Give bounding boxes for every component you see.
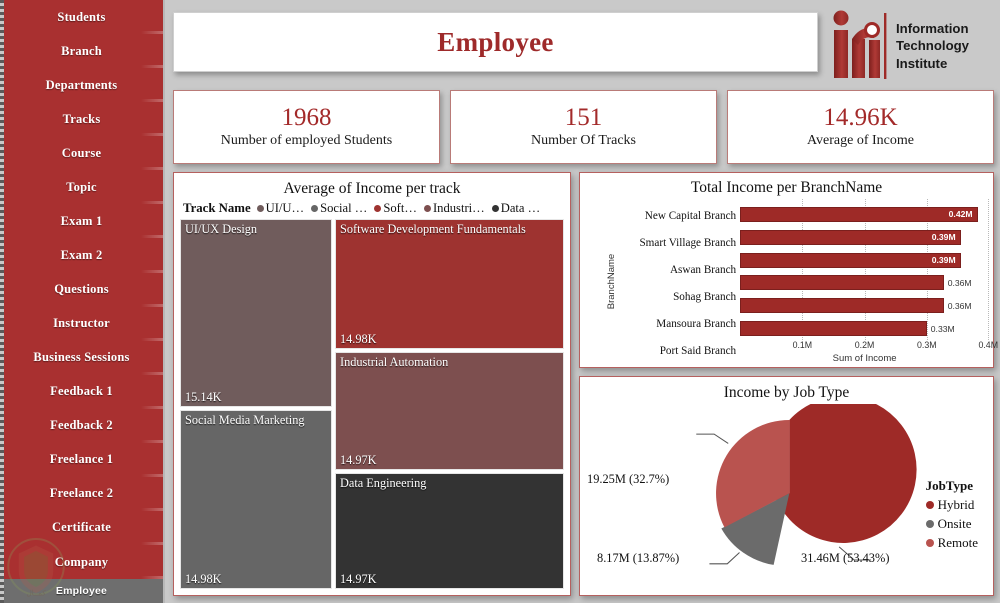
treemap-legend-item-uiux[interactable]: UI/U… — [257, 201, 304, 216]
pie-legend-label: Hybrid — [938, 497, 975, 513]
legend-dot-icon — [926, 501, 934, 509]
pie-chart-legend: JobType Hybrid Onsite Remo — [926, 478, 978, 554]
bar-row[interactable]: 0.36M — [740, 294, 989, 317]
treemap-panel[interactable]: Average of Income per track Track Name U… — [173, 172, 571, 596]
legend-dot-icon — [257, 205, 264, 212]
sidebar-item-label: Feedback 2 — [50, 418, 113, 433]
kpi-value: 151 — [565, 105, 603, 131]
sidebar-item-freelance-2[interactable]: Freelance 2 — [0, 477, 163, 511]
sidebar-item-label: Topic — [66, 180, 96, 195]
bar-chart-y-axis-label: BranchName — [584, 199, 639, 364]
bar-row[interactable]: 0.42M — [740, 203, 989, 226]
pie-legend-label: Onsite — [938, 516, 972, 532]
sidebar-item-business-sessions[interactable]: Business Sessions — [0, 341, 163, 375]
pie-legend-title: JobType — [926, 478, 978, 494]
sidebar-item-label: Departments — [46, 78, 118, 93]
bar-category-label: New Capital Branch — [639, 203, 740, 230]
sidebar-item-label: Exam 1 — [61, 214, 103, 229]
treemap-legend-item-software[interactable]: Soft… — [374, 201, 417, 216]
sidebar-item-label: Freelance 2 — [50, 486, 113, 501]
treemap-column: Average of Income per track Track Name U… — [173, 172, 571, 596]
bar-category-label: Smart Village Branch — [639, 230, 740, 257]
sidebar-item-label: Questions — [54, 282, 109, 297]
sidebar-item-label: Company — [55, 555, 109, 570]
bar-row[interactable]: 0.39M — [740, 226, 989, 249]
treemap-cell-value: 14.97K — [340, 572, 377, 587]
bar-chart-title: Total Income per BranchName — [584, 175, 989, 199]
bar-chart-plot-wrapper: 0.42M 0.39M — [740, 199, 989, 364]
iti-logo-icon — [828, 9, 890, 83]
treemap-cell-value: 14.97K — [340, 453, 377, 468]
treemap-title: Average of Income per track — [177, 176, 567, 200]
pie-legend-item-onsite[interactable]: Onsite — [926, 516, 978, 532]
sidebar-item-exam-2[interactable]: Exam 2 — [0, 238, 163, 272]
pie-slice-hybrid[interactable] — [774, 404, 917, 543]
sidebar-item-label: Feedback 1 — [50, 384, 113, 399]
legend-dot-icon — [492, 205, 499, 212]
kpi-label: Number of employed Students — [221, 133, 392, 149]
brand-line-1: Information — [896, 20, 969, 37]
pie-chart-panel[interactable]: Income by Job Type — [579, 376, 994, 596]
bar-chart-plot-area: 0.42M 0.39M — [740, 199, 989, 340]
kpi-label: Number Of Tracks — [531, 133, 636, 149]
bar-category-label: Port Said Branch — [639, 337, 740, 364]
treemap-cell-name: Industrial Automation — [340, 355, 448, 370]
sidebar-item-students[interactable]: Students — [0, 0, 163, 34]
kpi-value: 1968 — [282, 105, 332, 131]
bar-value-label: 0.39M — [932, 255, 956, 265]
legend-dot-icon — [424, 205, 431, 212]
sidebar-nav: Students Branch Departments Tracks Cours… — [0, 0, 165, 603]
sidebar-item-employee[interactable]: Employee — [0, 579, 163, 603]
treemap-legend-label: Data … — [501, 201, 541, 216]
treemap-legend-label: UI/U… — [266, 201, 304, 216]
pie-chart-title: Income by Job Type — [583, 380, 990, 404]
main-content: Employee — [165, 0, 1000, 603]
bar-rect[interactable] — [740, 298, 944, 313]
bar-chart-panel[interactable]: Total Income per BranchName BranchName N… — [579, 172, 994, 368]
sidebar-item-certificate[interactable]: Certificate — [0, 511, 163, 545]
pie-leader-line-onsite — [709, 553, 739, 564]
treemap-legend-item-industrial[interactable]: Industri… — [424, 201, 485, 216]
brand-line-3: Institute — [896, 55, 969, 72]
sidebar-item-branch[interactable]: Branch — [0, 34, 163, 68]
sidebar-item-topic[interactable]: Topic — [0, 170, 163, 204]
sidebar-item-label: Students — [57, 10, 105, 25]
brand-line-2: Technology — [896, 37, 969, 54]
treemap-legend-label: Industri… — [433, 201, 485, 216]
sidebar-item-course[interactable]: Course — [0, 136, 163, 170]
sidebar-item-label: Business Sessions — [33, 350, 129, 365]
x-axis-tick: 0.3M — [917, 340, 937, 350]
legend-dot-icon — [311, 205, 318, 212]
bar-row[interactable]: 0.36M — [740, 271, 989, 294]
treemap-cell-value: 14.98K — [185, 572, 222, 587]
treemap-plot: UI/UX Design 15.14K Social Media Marketi… — [177, 219, 567, 592]
treemap-cell-name: Data Engineering — [340, 476, 426, 491]
sidebar-item-company[interactable]: Company — [0, 545, 163, 579]
treemap-cell-value: 14.98K — [340, 332, 377, 347]
kpi-row: 1968 Number of employed Students 151 Num… — [173, 90, 994, 164]
bar-category-label: Mansoura Branch — [639, 310, 740, 337]
page-title: Employee — [437, 27, 553, 58]
sidebar-item-label: Freelance 1 — [50, 452, 113, 467]
bar-chart-x-axis: 0.1M 0.2M 0.3M 0.4M — [740, 340, 989, 354]
treemap-cell-data-engineering[interactable]: Data Engineering 14.97K — [335, 473, 564, 589]
dashboard-root: Students Branch Departments Tracks Cours… — [0, 0, 1000, 603]
pie-data-label-hybrid: 31.46M (53.43%) — [801, 551, 889, 566]
right-column: Total Income per BranchName BranchName N… — [579, 172, 994, 596]
content-row: Average of Income per track Track Name U… — [173, 172, 994, 596]
legend-dot-icon — [374, 205, 381, 212]
bar-chart-rows: 0.42M 0.39M — [740, 203, 989, 340]
bar-category-label: Sohag Branch — [639, 283, 740, 310]
bar-row[interactable]: 0.39M — [740, 249, 989, 272]
sidebar-item-label: Certificate — [52, 520, 111, 535]
legend-dot-icon — [926, 539, 934, 547]
bar-row[interactable]: 0.33M — [740, 317, 989, 340]
bar-value-label: 0.33M — [931, 324, 955, 334]
header-row: Employee — [173, 6, 994, 86]
brand-logo: Information Technology Institute — [826, 6, 994, 86]
bar-rect[interactable] — [740, 321, 927, 336]
sidebar-dotted-edge — [0, 0, 4, 603]
sidebar-item-departments[interactable]: Departments — [0, 68, 163, 102]
kpi-value: 14.96K — [823, 105, 897, 131]
pie-data-label-onsite: 8.17M (13.87%) — [597, 551, 679, 566]
sidebar-item-label: Tracks — [63, 112, 101, 127]
kpi-card-employed-students[interactable]: 1968 Number of employed Students — [173, 90, 440, 164]
bar-chart-body: BranchName New Capital Branch Smart Vill… — [584, 199, 989, 364]
treemap-cell-name: UI/UX Design — [185, 222, 257, 237]
bar-rect[interactable]: 0.39M — [740, 253, 960, 268]
bar-value-label: 0.39M — [932, 232, 956, 242]
kpi-card-number-of-tracks[interactable]: 151 Number Of Tracks — [450, 90, 717, 164]
legend-dot-icon — [926, 520, 934, 528]
treemap-cell-name: Software Development Fundamentals — [340, 222, 526, 237]
sidebar-item-questions[interactable]: Questions — [0, 273, 163, 307]
treemap-cell-industrial-automation[interactable]: Industrial Automation 14.97K — [335, 352, 564, 470]
sidebar-item-label: Course — [62, 146, 101, 161]
treemap-legend: Track Name UI/U… Social … Soft… — [177, 200, 567, 219]
treemap-right-column: Software Development Fundamentals 14.98K… — [335, 219, 564, 589]
x-axis-tick: 0.4M — [978, 340, 998, 350]
brand-logo-text: Information Technology Institute — [896, 20, 969, 72]
bar-rect[interactable]: 0.39M — [740, 230, 960, 245]
sidebar-item-label: Branch — [61, 44, 102, 59]
kpi-card-average-income[interactable]: 14.96K Average of Income — [727, 90, 994, 164]
sidebar-item-tracks[interactable]: Tracks — [0, 102, 163, 136]
treemap-left-column: UI/UX Design 15.14K Social Media Marketi… — [180, 219, 332, 589]
treemap-legend-item-social[interactable]: Social … — [311, 201, 367, 216]
bar-rect[interactable] — [740, 275, 944, 290]
sidebar-item-label: Instructor — [53, 316, 110, 331]
sidebar-item-exam-1[interactable]: Exam 1 — [0, 204, 163, 238]
pie-legend-item-remote[interactable]: Remote — [926, 535, 978, 551]
kpi-label: Average of Income — [807, 133, 914, 149]
bar-value-label: 0.36M — [948, 278, 972, 288]
treemap-legend-label: Social … — [320, 201, 367, 216]
sidebar-item-feedback-2[interactable]: Feedback 2 — [0, 409, 163, 443]
bar-value-label: 0.42M — [949, 209, 973, 219]
sidebar-item-label: Employee — [56, 585, 107, 597]
pie-legend-label: Remote — [938, 535, 978, 551]
sidebar-item-feedback-1[interactable]: Feedback 1 — [0, 375, 163, 409]
bar-value-label: 0.36M — [948, 301, 972, 311]
pie-data-label-remote: 19.25M (32.7%) — [587, 472, 669, 487]
pie-legend-item-hybrid[interactable]: Hybrid — [926, 497, 978, 513]
treemap-cell-name: Social Media Marketing — [185, 413, 305, 428]
sidebar-item-instructor[interactable]: Instructor — [0, 307, 163, 341]
bar-chart-category-labels: New Capital Branch Smart Village Branch … — [639, 199, 740, 364]
treemap-legend-item-data[interactable]: Data … — [492, 201, 541, 216]
x-axis-tick: 0.1M — [793, 340, 813, 350]
treemap-legend-caption: Track Name — [183, 201, 251, 216]
pie-chart-body: 19.25M (32.7%) 8.17M (13.87%) 31.46M (53… — [583, 404, 990, 592]
x-axis-tick: 0.2M — [855, 340, 875, 350]
page-title-card: Employee — [173, 12, 818, 72]
bar-rect[interactable]: 0.42M — [740, 207, 977, 222]
sidebar-item-label: Exam 2 — [61, 248, 103, 263]
pie-leader-line-remote — [696, 434, 728, 443]
bar-chart-x-axis-label: Sum of Income — [740, 353, 989, 364]
sidebar-item-freelance-1[interactable]: Freelance 1 — [0, 443, 163, 477]
bar-category-label: Aswan Branch — [639, 257, 740, 284]
treemap-cell-value: 15.14K — [185, 390, 222, 405]
treemap-cell-uiux-design[interactable]: UI/UX Design 15.14K — [180, 219, 332, 407]
treemap-legend-label: Soft… — [383, 201, 417, 216]
treemap-cell-software-development-fundamentals[interactable]: Software Development Fundamentals 14.98K — [335, 219, 564, 349]
treemap-cell-social-media-marketing[interactable]: Social Media Marketing 14.98K — [180, 410, 332, 589]
